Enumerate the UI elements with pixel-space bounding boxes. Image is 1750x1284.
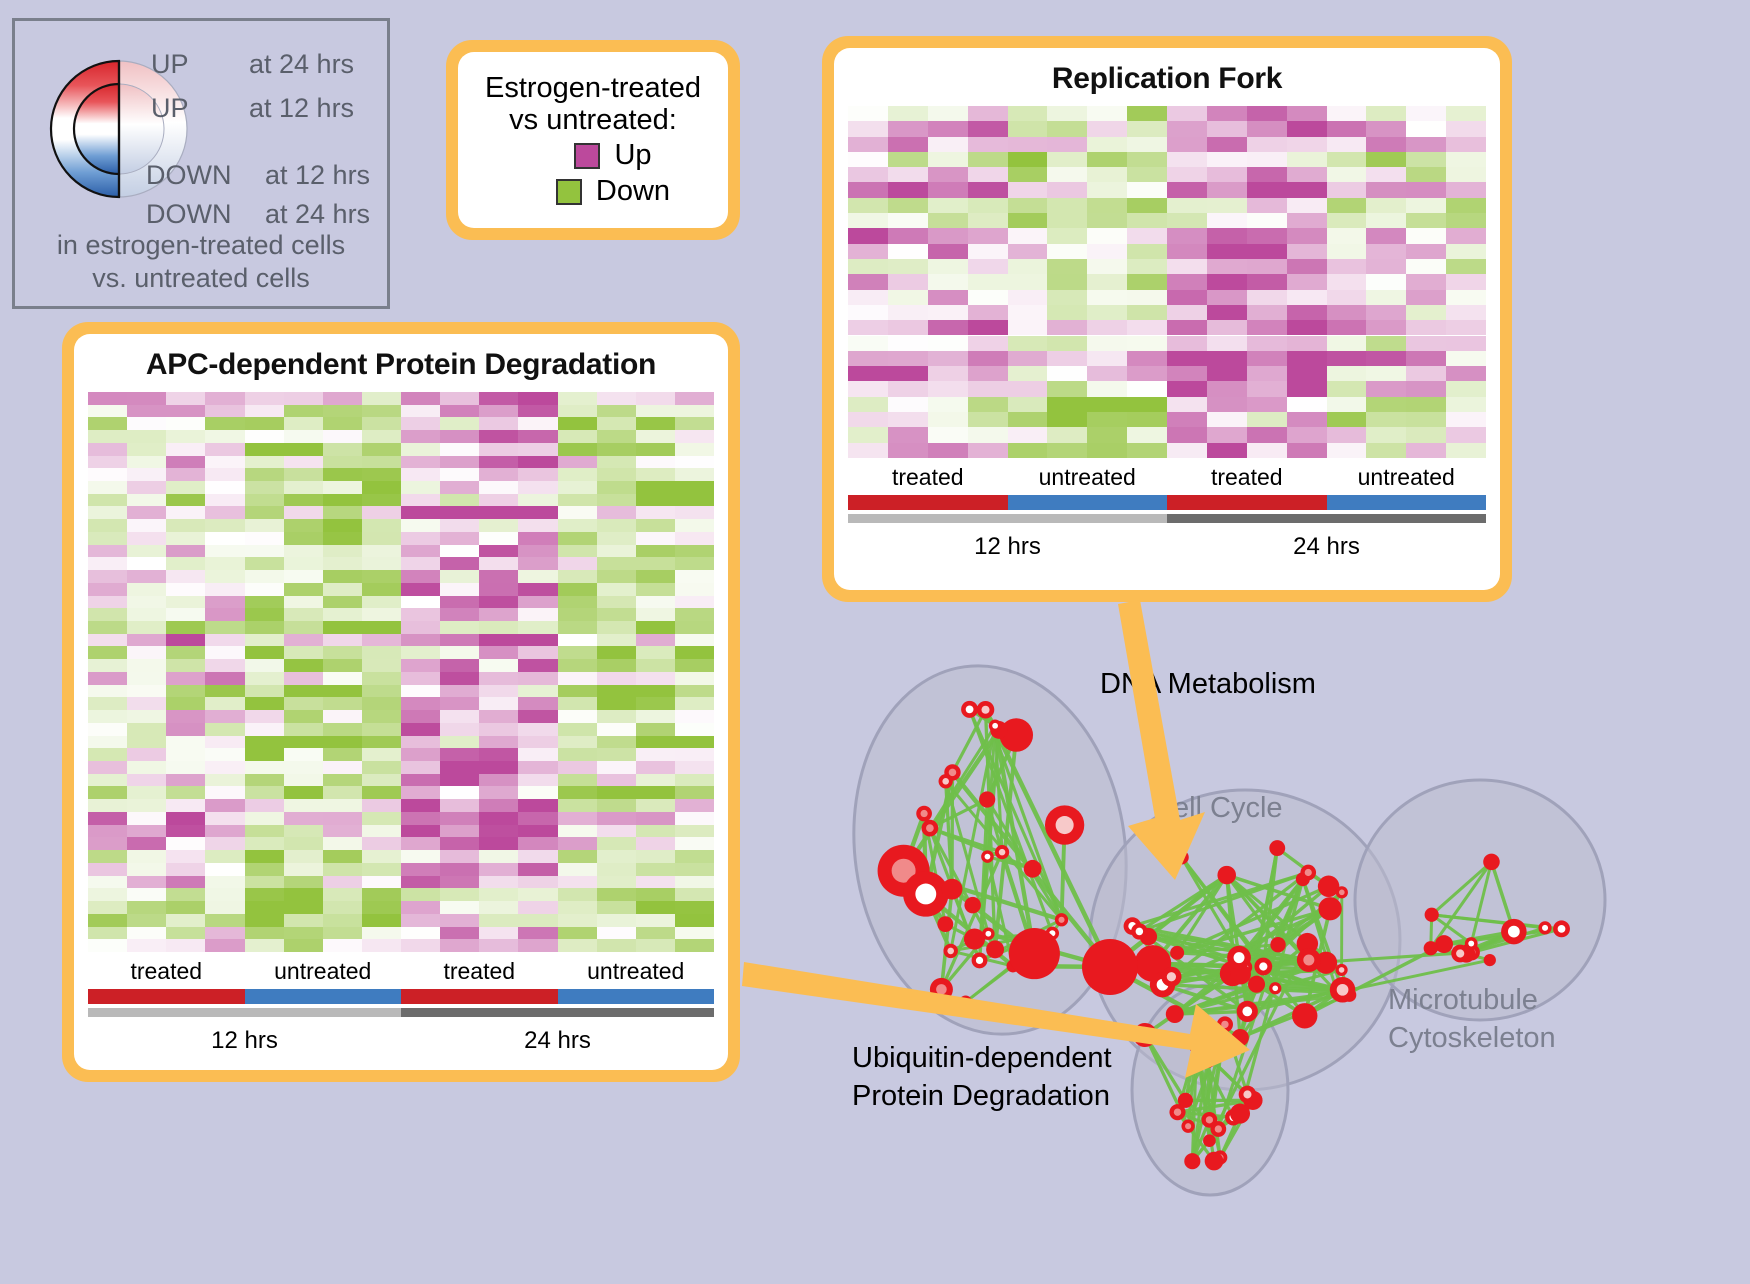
heatmap-cell <box>888 366 928 381</box>
heatmap-cell <box>127 888 166 901</box>
heatmap-cell <box>205 443 244 456</box>
heatmap-cell <box>323 927 362 940</box>
heatmap-cell <box>636 723 675 736</box>
heatmap-cell <box>88 710 127 723</box>
heatmap-cell <box>848 259 888 274</box>
heatmap-cell <box>1366 213 1406 228</box>
heatmap-cell <box>636 583 675 596</box>
heatmap-cell <box>518 583 557 596</box>
heatmap-cell <box>518 888 557 901</box>
heatmap-cell <box>1287 152 1327 167</box>
heatmap-cell <box>323 888 362 901</box>
heatmap-cell <box>284 456 323 469</box>
heatmap-cell <box>675 481 714 494</box>
heatmap-cell <box>1127 336 1167 351</box>
heatmap-cell <box>1366 427 1406 442</box>
heatmap-cell <box>362 812 401 825</box>
heatmap-cell <box>479 532 518 545</box>
heatmap-cell <box>968 336 1008 351</box>
heatmap-cell <box>1047 351 1087 366</box>
sample-bar-0 <box>88 989 245 1004</box>
heatmap-cell <box>1207 336 1247 351</box>
heatmap-cell <box>166 888 205 901</box>
heatmap-cell <box>88 646 127 659</box>
heatmap-cell <box>127 659 166 672</box>
heatmap-cell <box>284 748 323 761</box>
heatmap-cell <box>88 443 127 456</box>
heatmap-cell <box>518 761 557 774</box>
heatmap-cell <box>558 506 597 519</box>
heatmap-cell <box>636 685 675 698</box>
heatmap-cell <box>1287 443 1327 458</box>
network-node <box>1199 1051 1216 1068</box>
heatmap-cell <box>205 519 244 532</box>
heatmap-cell <box>1127 137 1167 152</box>
heatmap-cell <box>88 748 127 761</box>
time-bar-row <box>88 1008 714 1017</box>
heatmap-cell <box>1047 397 1087 412</box>
heatmap-cell <box>636 710 675 723</box>
heatmap-cell <box>245 901 284 914</box>
heatmap-cell <box>401 583 440 596</box>
heatmap-cell <box>166 863 205 876</box>
heatmap-cell <box>597 456 636 469</box>
heatmap-cell <box>636 850 675 863</box>
heatmap-cell <box>440 405 479 418</box>
heatmap-cell <box>1008 152 1048 167</box>
heatmap-cell <box>479 646 518 659</box>
heatmap-cell <box>440 710 479 723</box>
heatmap-cell <box>675 863 714 876</box>
heatmap-cell <box>848 443 888 458</box>
heatmap-cell <box>440 888 479 901</box>
heatmap-cell <box>1047 427 1087 442</box>
heatmap-cell <box>558 608 597 621</box>
heatmap-cell <box>284 468 323 481</box>
heatmap-cell <box>1287 381 1327 396</box>
network-node-core <box>1337 984 1349 996</box>
heatmap-cell <box>1327 106 1367 121</box>
heatmap-cell <box>636 812 675 825</box>
sample-bar-1 <box>245 989 402 1004</box>
network-node <box>1205 1152 1224 1171</box>
heatmap-cell <box>597 659 636 672</box>
network-node <box>1318 897 1341 920</box>
heatmap-cell <box>205 430 244 443</box>
heatmap-cell <box>440 634 479 647</box>
heatmap-cell <box>597 532 636 545</box>
heatmap-cell <box>597 583 636 596</box>
heatmap-cell <box>362 417 401 430</box>
heatmap-cell <box>597 570 636 583</box>
heatmap-cell <box>597 876 636 889</box>
heatmap-cell <box>127 736 166 749</box>
heatmap-cell <box>636 888 675 901</box>
heatmap-cell <box>1287 274 1327 289</box>
heatmap-cell <box>1127 198 1167 213</box>
heatmap-cell <box>1167 427 1207 442</box>
heatmap-cell <box>1366 228 1406 243</box>
heatmap-cell <box>558 481 597 494</box>
heatmap-cell <box>888 443 928 458</box>
heatmap-cell <box>479 786 518 799</box>
heatmap-cell <box>1287 320 1327 335</box>
heatmap-cell <box>284 519 323 532</box>
heatmap-cell <box>1287 336 1327 351</box>
heatmap-cell <box>928 198 968 213</box>
heatmap-cell <box>127 608 166 621</box>
heatmap-cell <box>597 812 636 825</box>
heatmap-cell <box>518 876 557 889</box>
heatmap-cell <box>1087 427 1127 442</box>
heatmap-cell <box>440 723 479 736</box>
heatmap-cell <box>1167 381 1207 396</box>
network-node <box>1424 941 1438 955</box>
heatmap-cell <box>166 672 205 685</box>
heatmap-cell <box>1406 351 1446 366</box>
heatmap-cell <box>88 468 127 481</box>
heatmap-cell <box>1366 198 1406 213</box>
heatmap-cell <box>1127 152 1167 167</box>
heatmap-cell <box>323 596 362 609</box>
heatmap-cell <box>88 519 127 532</box>
heatmap-cell <box>245 748 284 761</box>
heatmap-cell <box>479 659 518 672</box>
heatmap-cell <box>127 481 166 494</box>
sample-color-bar-row <box>848 495 1486 510</box>
heatmap-cell <box>558 697 597 710</box>
heatmap-cell <box>1127 121 1167 136</box>
heatmap-cell <box>1406 427 1446 442</box>
expression-key-box: UP at 24 hrs UP at 12 hrs DOWN at 12 hrs… <box>12 18 390 309</box>
heatmap-cell <box>284 723 323 736</box>
heatmap-cell <box>88 927 127 940</box>
heatmap-cell <box>1207 320 1247 335</box>
heatmap-cell <box>166 430 205 443</box>
heatmap-cell <box>1446 320 1486 335</box>
heatmap-cell <box>479 685 518 698</box>
heatmap-cell <box>1008 259 1048 274</box>
heatmap-cell <box>1167 397 1207 412</box>
heatmap-cell <box>127 646 166 659</box>
heatmap-cell <box>245 888 284 901</box>
heatmap-cell <box>675 837 714 850</box>
heatmap-cell <box>928 137 968 152</box>
heatmap-cell <box>1406 366 1446 381</box>
heatmap-cell <box>558 583 597 596</box>
heatmap-cell <box>362 532 401 545</box>
heatmap-cell <box>597 443 636 456</box>
heatmap-cell <box>323 646 362 659</box>
heatmap-cell <box>1127 412 1167 427</box>
heatmap-cell <box>479 825 518 838</box>
heatmap-cell <box>1406 397 1446 412</box>
heatmap-cell <box>88 863 127 876</box>
heatmap-cell <box>558 430 597 443</box>
network-node <box>1483 854 1500 871</box>
heatmap-cell <box>245 519 284 532</box>
heatmap-cell <box>1207 213 1247 228</box>
heatmap-cell <box>558 901 597 914</box>
heatmap-cell <box>675 774 714 787</box>
heatmap-cell <box>401 494 440 507</box>
heatmap-cell <box>401 621 440 634</box>
heatmap-cell <box>1247 336 1287 351</box>
heatmap-cell <box>675 888 714 901</box>
heatmap-cell <box>1247 290 1287 305</box>
heatmap-cell <box>440 570 479 583</box>
heatmap-cell <box>1446 213 1486 228</box>
heatmap-cell <box>1087 244 1127 259</box>
heatmap-cell <box>245 634 284 647</box>
heatmap-cell <box>362 430 401 443</box>
heatmap-cell <box>675 494 714 507</box>
heatmap-cell <box>127 506 166 519</box>
heatmap-cell <box>636 748 675 761</box>
heatmap-cell <box>1366 366 1406 381</box>
heatmap-cell <box>166 417 205 430</box>
heatmap-cell <box>558 799 597 812</box>
heatmap-cell <box>401 596 440 609</box>
heatmap-cell <box>675 608 714 621</box>
heatmap-cell <box>888 305 928 320</box>
heatmap-cell <box>636 481 675 494</box>
heatmap-cell <box>1247 381 1287 396</box>
heatmap-cell <box>323 786 362 799</box>
heatmap-cell <box>558 532 597 545</box>
heatmap-cell <box>166 914 205 927</box>
heatmap-cell <box>968 121 1008 136</box>
heatmap-cell <box>1008 397 1048 412</box>
heatmap-cell <box>440 608 479 621</box>
heatmap-cell <box>284 443 323 456</box>
key-row-1-label: UP <box>151 93 189 124</box>
heatmap-cell <box>1406 443 1446 458</box>
heatmap-cell <box>1247 351 1287 366</box>
heatmap-cell <box>1087 305 1127 320</box>
heatmap-cell <box>479 596 518 609</box>
heatmap-cell <box>245 850 284 863</box>
heatmap-cell <box>88 672 127 685</box>
heatmap-cell <box>479 837 518 850</box>
heatmap-cell <box>362 697 401 710</box>
heatmap-cell <box>1008 167 1048 182</box>
heatmap-cell <box>1087 213 1127 228</box>
sample-bar-2 <box>401 989 558 1004</box>
down-label: Down <box>596 175 670 208</box>
heatmap-cell <box>636 901 675 914</box>
heatmap-cell <box>1366 274 1406 289</box>
heatmap-cell <box>284 685 323 698</box>
heatmap-cell <box>968 259 1008 274</box>
heatmap-cell <box>1008 381 1048 396</box>
heatmap-cell <box>205 685 244 698</box>
heatmap-cell <box>1247 443 1287 458</box>
heatmap-cell <box>127 443 166 456</box>
heatmap-cell <box>928 290 968 305</box>
heatmap-cell <box>88 914 127 927</box>
heatmap-cell <box>323 443 362 456</box>
heatmap-cell <box>518 850 557 863</box>
heatmap-cell <box>127 914 166 927</box>
heatmap-cell <box>401 646 440 659</box>
heatmap-cell <box>362 583 401 596</box>
heatmap-cell <box>636 786 675 799</box>
heatmap-cell <box>166 812 205 825</box>
heatmap-cell <box>848 381 888 396</box>
heatmap-cell <box>1366 443 1406 458</box>
heatmap-cell <box>1127 106 1167 121</box>
heatmap-cell <box>518 646 557 659</box>
heatmap-cell <box>166 710 205 723</box>
heatmap-cell <box>479 405 518 418</box>
heatmap-cell <box>245 812 284 825</box>
heatmap-cell <box>1287 305 1327 320</box>
heatmap-cell <box>968 290 1008 305</box>
heatmap-cell <box>245 939 284 952</box>
heatmap-cell <box>440 901 479 914</box>
heatmap-cell <box>518 927 557 940</box>
heatmap-cell <box>675 456 714 469</box>
heatmap-cell <box>479 583 518 596</box>
heatmap-cell <box>1446 137 1486 152</box>
heatmap-cell <box>284 786 323 799</box>
heatmap-cell <box>675 468 714 481</box>
heatmap-cell <box>401 430 440 443</box>
heatmap-cell <box>675 697 714 710</box>
heatmap-cell <box>1047 228 1087 243</box>
heatmap-cell <box>1087 228 1127 243</box>
heatmap-cell <box>597 774 636 787</box>
heatmap-cell <box>1247 274 1287 289</box>
heatmap-cell <box>166 583 205 596</box>
heatmap-cell <box>362 825 401 838</box>
heatmap-cell <box>1167 152 1207 167</box>
heatmap-cell <box>1008 305 1048 320</box>
heatmap-cell <box>166 596 205 609</box>
heatmap-cell <box>636 697 675 710</box>
heatmap-cell <box>1287 182 1327 197</box>
heatmap-cell <box>323 697 362 710</box>
heatmap-cell <box>166 659 205 672</box>
heatmap-cell <box>597 519 636 532</box>
heatmap-cell <box>323 557 362 570</box>
network-node-core <box>1185 1123 1191 1129</box>
heatmap-cell <box>888 121 928 136</box>
heatmap-cell <box>1047 443 1087 458</box>
heatmap-cell <box>440 863 479 876</box>
heatmap-cell <box>479 557 518 570</box>
heatmap-cell <box>127 430 166 443</box>
sample-bar-3 <box>1327 495 1487 510</box>
time-label-row: 12 hrs 24 hrs <box>88 1021 714 1055</box>
heatmap-cell <box>1087 167 1127 182</box>
heatmap-cell <box>284 494 323 507</box>
heatmap-cell <box>1127 259 1167 274</box>
heatmap-cell <box>597 837 636 850</box>
heatmap-cell <box>1287 351 1327 366</box>
heatmap-cell <box>1366 167 1406 182</box>
heatmap-cell <box>1207 443 1247 458</box>
heatmap-cell <box>675 570 714 583</box>
heatmap-cell <box>1047 320 1087 335</box>
heatmap-cell <box>1446 412 1486 427</box>
heatmap-cell <box>1247 152 1287 167</box>
heatmap-cell <box>1207 366 1247 381</box>
heatmap-cell <box>1327 366 1367 381</box>
heatmap-cell <box>88 723 127 736</box>
heatmap-cell <box>440 736 479 749</box>
heatmap-cell <box>1207 381 1247 396</box>
heatmap-cell <box>675 723 714 736</box>
heatmap-cell <box>323 405 362 418</box>
heatmap-cell <box>1406 290 1446 305</box>
heatmap-cell <box>1167 290 1207 305</box>
network-node <box>942 879 963 900</box>
heatmap-cell <box>401 443 440 456</box>
heatmap-cell <box>1406 228 1446 243</box>
network-node <box>1174 850 1188 864</box>
heatmap-cell <box>362 494 401 507</box>
heatmap-cell <box>597 939 636 952</box>
heatmap-cell <box>597 723 636 736</box>
heatmap-cell <box>440 621 479 634</box>
heatmap-cell <box>1047 336 1087 351</box>
heatmap-cell <box>205 570 244 583</box>
heatmap-cell <box>1008 320 1048 335</box>
heatmap-cell <box>88 736 127 749</box>
heatmap-cell <box>1446 228 1486 243</box>
heatmap-cell <box>675 519 714 532</box>
sample-label-2: treated <box>401 952 558 989</box>
key-footer-line1: in estrogen-treated cells <box>15 229 387 262</box>
heatmap-cell <box>1247 305 1287 320</box>
heatmap-cell <box>1327 412 1367 427</box>
heatmap-cell <box>558 659 597 672</box>
heatmap-cell <box>518 710 557 723</box>
heatmap-cell <box>284 736 323 749</box>
heatmap-cell <box>166 646 205 659</box>
heatmap-cell <box>1087 182 1127 197</box>
heatmap-cell <box>558 863 597 876</box>
heatmap-cell <box>401 774 440 787</box>
network-node-core <box>999 849 1006 856</box>
panel-title-replication-fork: Replication Fork <box>1052 62 1282 96</box>
heatmap-cell <box>362 837 401 850</box>
heatmap-cell <box>88 837 127 850</box>
heatmap-cell <box>1008 412 1048 427</box>
heatmap-cell <box>518 430 557 443</box>
network-node-core <box>1136 928 1144 936</box>
heatmap-cell <box>401 736 440 749</box>
heatmap-cell <box>888 351 928 366</box>
heatmap-cell <box>205 876 244 889</box>
heatmap-cell <box>1008 106 1048 121</box>
heatmap-cell <box>479 634 518 647</box>
heatmap-cell <box>968 366 1008 381</box>
heatmap-cell <box>205 736 244 749</box>
heatmap-cell <box>518 532 557 545</box>
heatmap-cell <box>1087 274 1127 289</box>
heatmap-cell <box>166 456 205 469</box>
heatmap-cell <box>675 392 714 405</box>
heatmap-cell <box>675 799 714 812</box>
heatmap-cell <box>440 456 479 469</box>
heatmap-cell <box>440 825 479 838</box>
heatmap-cell <box>362 570 401 583</box>
network-node-core <box>1243 1090 1251 1098</box>
heatmap-cell <box>675 430 714 443</box>
